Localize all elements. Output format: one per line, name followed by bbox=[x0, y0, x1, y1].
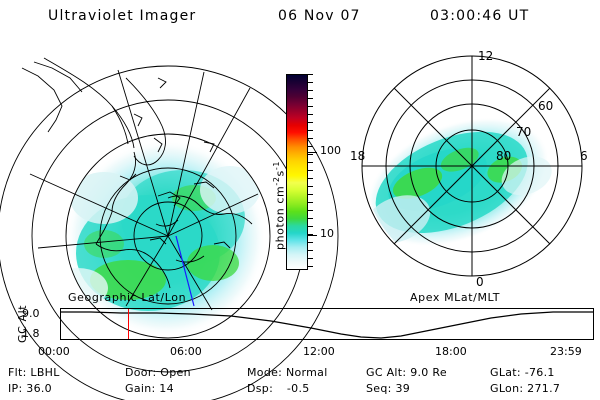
apex-mlt-dial[interactable]: 12 18 6 0 60 70 80 bbox=[348, 42, 596, 290]
mlat-label-60: 60 bbox=[538, 99, 553, 113]
observation-time: 03:00:46 UT bbox=[430, 8, 529, 24]
time-tick-1: 06:00 bbox=[170, 345, 202, 358]
colorbar-minor-tick bbox=[308, 74, 313, 75]
aurora-emission-layer bbox=[48, 140, 266, 336]
status-glat: GLat: -76.1 bbox=[490, 366, 555, 379]
right-panel-caption: Apex MLat/MLT bbox=[410, 291, 500, 304]
left-panel-caption: Geographic Lat/Lon bbox=[68, 291, 186, 304]
colorbar-minor-tick bbox=[308, 202, 313, 203]
status-gc-alt: GC Alt: 9.0 Re bbox=[366, 366, 447, 379]
status-mode: Mode: Normal bbox=[247, 366, 328, 379]
gc-alt-tick-bottom: 1.8 bbox=[22, 327, 40, 340]
colorbar-gradient bbox=[286, 74, 308, 270]
mlt-label-0: 0 bbox=[476, 275, 484, 289]
status-gain-label: Gain: bbox=[125, 382, 156, 395]
mlt-label-12: 12 bbox=[478, 49, 493, 63]
cb-label-mid: s bbox=[274, 170, 287, 176]
status-gc-alt-label: GC Alt: bbox=[366, 366, 406, 379]
status-glon-label: GLon: bbox=[490, 382, 523, 395]
colorbar-minor-tick bbox=[308, 178, 313, 179]
instrument-title: Ultraviolet Imager bbox=[48, 8, 196, 24]
observation-date: 06 Nov 07 bbox=[278, 8, 361, 24]
current-time-marker bbox=[128, 309, 129, 339]
mlat-label-80: 80 bbox=[496, 149, 511, 163]
time-tick-2: 12:00 bbox=[303, 345, 335, 358]
status-mode-label: Mode: bbox=[247, 366, 282, 379]
status-ip: IP: 36.0 bbox=[8, 382, 52, 395]
status-glat-label: GLat: bbox=[490, 366, 521, 379]
colorbar-minor-tick bbox=[308, 162, 313, 163]
status-dsp-label: Dsp: bbox=[247, 382, 273, 395]
colorbar-minor-tick bbox=[308, 98, 313, 99]
status-dsp: Dsp: -0.5 bbox=[247, 382, 310, 395]
colorbar-minor-tick bbox=[308, 90, 313, 91]
geographic-polar-map[interactable] bbox=[8, 48, 258, 288]
status-gain-value: 14 bbox=[159, 382, 174, 395]
time-tick-0: 00:00 bbox=[38, 345, 70, 358]
geographic-map-svg bbox=[8, 48, 258, 288]
status-seq-label: Seq: bbox=[366, 382, 392, 395]
colorbar-minor-tick bbox=[308, 186, 313, 187]
status-flt-value: LBHL bbox=[30, 366, 59, 379]
status-dsp-value: -0.5 bbox=[287, 382, 310, 395]
colorbar-minor-tick bbox=[308, 154, 313, 155]
colorbar-minor-tick bbox=[308, 210, 313, 211]
colorbar-minor-tick bbox=[308, 130, 313, 131]
status-gc-alt-value: 9.0 Re bbox=[410, 366, 447, 379]
uvi-summary-page: Ultraviolet Imager 06 Nov 07 03:00:46 UT bbox=[0, 0, 600, 400]
status-flt: Flt: LBHL bbox=[8, 366, 60, 379]
colorbar-major-tick bbox=[308, 235, 317, 236]
colorbar-minor-tick bbox=[308, 146, 313, 147]
status-glon-value: 271.7 bbox=[527, 382, 560, 395]
colorbar-minor-tick bbox=[308, 114, 313, 115]
status-seq-value: 39 bbox=[395, 382, 410, 395]
colorbar-minor-tick bbox=[308, 170, 313, 171]
mlt-spokes bbox=[362, 56, 582, 276]
colorbar-minor-tick bbox=[308, 106, 313, 107]
colorbar-major-tick bbox=[308, 152, 317, 153]
status-ip-label: IP: bbox=[8, 382, 22, 395]
status-door-label: Door: bbox=[125, 366, 156, 379]
status-glon: GLon: 271.7 bbox=[490, 382, 560, 395]
colorbar[interactable] bbox=[286, 74, 308, 270]
colorbar-minor-tick bbox=[308, 242, 313, 243]
mlt-label-18: 18 bbox=[350, 149, 365, 163]
colorbar-minor-tick bbox=[308, 82, 313, 83]
orbit-altitude-plot[interactable] bbox=[60, 308, 594, 340]
colorbar-tick-label: 10 bbox=[320, 227, 334, 240]
status-door-value: Open bbox=[160, 366, 191, 379]
gc-alt-tick-top: 9.0 bbox=[22, 307, 40, 320]
status-ip-value: 36.0 bbox=[26, 382, 52, 395]
colorbar-minor-tick bbox=[308, 226, 313, 227]
status-mode-value: Normal bbox=[286, 366, 328, 379]
colorbar-tick-label: 100 bbox=[320, 144, 341, 157]
status-seq: Seq: 39 bbox=[366, 382, 410, 395]
cb-label-sup2: -1 bbox=[272, 161, 281, 170]
cb-label-sup1: -2 bbox=[272, 176, 281, 185]
time-tick-4: 23:59 bbox=[550, 345, 582, 358]
status-door: Door: Open bbox=[125, 366, 191, 379]
colorbar-minor-tick bbox=[308, 218, 313, 219]
colorbar-minor-tick bbox=[308, 122, 313, 123]
mlt-label-6: 6 bbox=[580, 149, 588, 163]
colorbar-minor-tick bbox=[308, 138, 313, 139]
colorbar-minor-tick bbox=[308, 266, 313, 267]
cb-label-main: photon cm bbox=[274, 186, 287, 250]
apex-dial-svg: 12 18 6 0 60 70 80 bbox=[348, 42, 596, 290]
orbit-altitude-curve bbox=[61, 309, 593, 339]
time-tick-3: 18:00 bbox=[435, 345, 467, 358]
status-gain: Gain: 14 bbox=[125, 382, 174, 395]
colorbar-minor-tick bbox=[308, 194, 313, 195]
mlat-label-70: 70 bbox=[516, 125, 531, 139]
status-glat-value: -76.1 bbox=[525, 366, 555, 379]
status-flt-label: Flt: bbox=[8, 366, 27, 379]
